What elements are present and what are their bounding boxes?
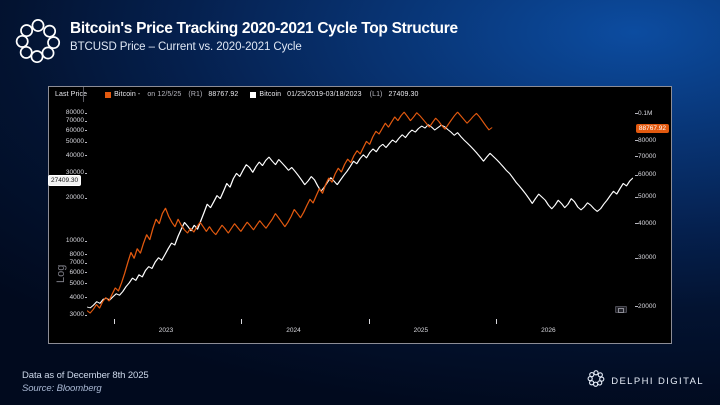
- bottom-axis-tick: 2025: [414, 327, 428, 334]
- right-axis-tick: 30000: [638, 254, 671, 261]
- price-series-svg: [87, 102, 633, 317]
- left-axis-tick: 50000: [49, 138, 84, 145]
- bloomberg-chart-panel: Last Price Bitcoin - on 12/5/25 (R1) 887…: [48, 86, 672, 344]
- right-axis-tickmark: [635, 175, 638, 176]
- legend-series1-asof: on 12/5/25: [147, 91, 181, 98]
- left-axis-tick: 3000: [49, 311, 84, 318]
- left-price-badge: 27409.30: [48, 175, 81, 186]
- left-axis-tick: 8000: [49, 251, 84, 258]
- legend-series2-axis: (L1): [370, 91, 383, 98]
- header: Bitcoin's Price Tracking 2020-2021 Cycle…: [0, 0, 720, 80]
- delphi-ring-logo-icon-footer: [587, 370, 605, 392]
- right-axis-tickmark: [635, 197, 638, 198]
- left-axis-tick: 5000: [49, 280, 84, 287]
- right-axis-tickmark: [635, 306, 638, 307]
- left-axis-tick: 20000: [49, 194, 84, 201]
- legend-swatch-white-icon: [250, 92, 256, 98]
- bottom-axis-tickmark: [241, 319, 242, 324]
- left-axis-tick: 70000: [49, 117, 84, 124]
- legend-series1-name: Bitcoin -: [114, 91, 140, 98]
- bottom-axis-tick: 2026: [541, 327, 555, 334]
- right-axis-tickmark: [635, 140, 638, 141]
- right-axis-tick: 50000: [638, 193, 671, 200]
- right-axis-tickmark: [635, 258, 638, 259]
- poster-root: Bitcoin's Price Tracking 2020-2021 Cycle…: [0, 0, 720, 405]
- series-line-current: [87, 112, 492, 313]
- left-axis-tick: 6000: [49, 269, 84, 276]
- right-axis-tick: 40000: [638, 220, 671, 227]
- right-axis-tick: 20000: [638, 303, 671, 310]
- bottom-axis-tickmark: [496, 319, 497, 324]
- left-axis-tick: 80000: [49, 109, 84, 116]
- legend-series2-range: 01/25/2019-03/18/2023: [287, 91, 362, 98]
- delphi-ring-logo-icon: [14, 18, 62, 64]
- legend-series2-value: 27409.30: [389, 91, 419, 98]
- right-axis-tick: 0.1M: [638, 110, 671, 117]
- right-axis-tick: 60000: [638, 171, 671, 178]
- right-price-badge: 88767.92: [636, 124, 669, 133]
- bottom-axis-tick: 2024: [286, 327, 300, 334]
- legend-series-current[interactable]: Bitcoin - on 12/5/25 (R1) 88767.92: [105, 91, 238, 98]
- left-axis-tick: 60000: [49, 127, 84, 134]
- chart-plot-area: [87, 102, 633, 317]
- left-axis-tick: 7000: [49, 259, 84, 266]
- footer-logo: DELPHI DIGITAL: [587, 370, 704, 392]
- chart-widget-icon[interactable]: [615, 306, 627, 313]
- legend-divider: [83, 87, 84, 102]
- left-axis-tick: 4000: [49, 294, 84, 301]
- right-axis-tickmark: [635, 156, 638, 157]
- legend-series1-value: 88767.92: [208, 91, 238, 98]
- right-axis-tick: 70000: [638, 153, 671, 160]
- left-axis-tick: 40000: [49, 152, 84, 159]
- legend-series-prior-cycle[interactable]: Bitcoin 01/25/2019-03/18/2023 (L1) 27409…: [250, 91, 418, 98]
- right-axis-tick: 80000: [638, 137, 671, 144]
- left-axis-tick: 10000: [49, 237, 84, 244]
- legend-series2-name: Bitcoin: [259, 91, 281, 98]
- legend-series1-axis: (R1): [188, 91, 202, 98]
- right-axis-tickmark: [635, 113, 638, 114]
- bottom-axis-tickmark: [114, 319, 115, 324]
- bottom-axis-tick: 2023: [159, 327, 173, 334]
- right-axis-tickmark: [635, 223, 638, 224]
- page-subtitle: BTCUSD Price – Current vs. 2020-2021 Cyc…: [70, 41, 302, 53]
- data-as-of-note: Data as of December 8th 2025: [22, 370, 149, 381]
- footer-logo-text: DELPHI DIGITAL: [611, 376, 704, 387]
- chart-legend: Last Price Bitcoin - on 12/5/25 (R1) 887…: [49, 87, 671, 102]
- source-note: Source: Bloomberg: [22, 383, 102, 394]
- legend-swatch-orange-icon: [105, 92, 111, 98]
- page-title: Bitcoin's Price Tracking 2020-2021 Cycle…: [70, 20, 458, 38]
- bottom-axis-tickmark: [369, 319, 370, 324]
